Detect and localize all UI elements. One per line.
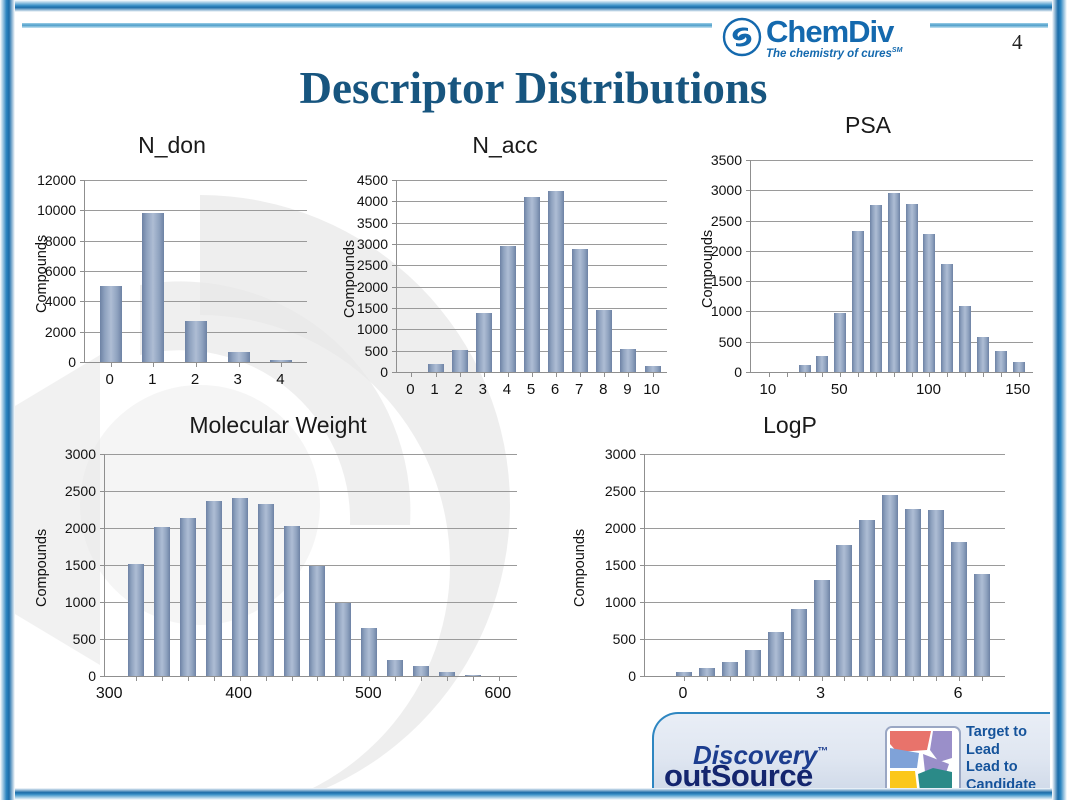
y-tick-label: 1500 <box>65 557 96 573</box>
y-tick-label: 2000 <box>605 520 636 536</box>
chart-title-molecular_weight: Molecular Weight <box>22 412 534 439</box>
x-tick-label: 2 <box>191 371 199 388</box>
bar <box>814 580 830 676</box>
x-tick-mark <box>136 676 137 681</box>
x-tick-label: 1 <box>430 381 438 398</box>
x-tick-mark <box>188 676 189 681</box>
gridline <box>105 454 517 455</box>
bar <box>928 510 944 677</box>
bar <box>722 662 738 676</box>
x-tick-mark <box>317 676 318 681</box>
bar <box>284 526 300 676</box>
x-tick-mark <box>653 372 654 377</box>
x-tick-mark <box>153 362 154 367</box>
x-tick-mark <box>947 372 948 377</box>
x-tick-mark <box>532 372 533 377</box>
gridline <box>645 454 1005 455</box>
bar <box>524 197 540 372</box>
bar <box>799 365 811 372</box>
bar <box>428 364 444 372</box>
y-tick-label: 2500 <box>605 483 636 499</box>
gridline <box>85 241 307 242</box>
y-tick-label: 1500 <box>357 300 388 316</box>
y-tick-label: 2500 <box>711 213 742 229</box>
y-tick-mark <box>100 528 105 529</box>
y-tick-label: 10000 <box>37 202 76 218</box>
y-tick-mark <box>640 454 645 455</box>
x-tick-mark <box>876 372 877 377</box>
chemdiv-swirl-icon <box>722 17 762 57</box>
y-tick-mark <box>640 565 645 566</box>
x-tick-mark <box>484 372 485 377</box>
x-tick-label: 3 <box>234 371 242 388</box>
bar <box>476 313 492 372</box>
bar <box>596 310 612 372</box>
chemdiv-tagline-sm: SM <box>892 47 903 54</box>
y-tick-label: 8000 <box>45 233 76 249</box>
x-tick-label: 3 <box>816 685 825 703</box>
y-tick-label: 2500 <box>357 257 388 273</box>
y-tick-label: 4500 <box>357 172 388 188</box>
bar <box>959 306 971 372</box>
x-tick-mark <box>196 362 197 367</box>
x-tick-label: 10 <box>760 381 777 398</box>
y-tick-label: 1000 <box>711 303 742 319</box>
x-tick-mark <box>965 372 966 377</box>
x-tick-label: 0 <box>105 371 113 388</box>
y-tick-label: 3500 <box>711 152 742 168</box>
y-tick-label: 3000 <box>65 446 96 462</box>
gridline <box>645 528 1005 529</box>
bar <box>834 313 846 372</box>
x-tick-mark <box>556 372 557 377</box>
x-tick-mark <box>292 676 293 681</box>
x-tick-label: 7 <box>575 381 583 398</box>
gridline <box>105 491 517 492</box>
y-tick-label: 4000 <box>357 193 388 209</box>
y-tick-mark <box>392 265 397 266</box>
x-tick-mark <box>240 676 241 681</box>
y-tick-mark <box>392 351 397 352</box>
y-tick-label: 3500 <box>357 215 388 231</box>
bar <box>309 566 325 676</box>
y-tick-mark <box>100 491 105 492</box>
y-tick-mark <box>80 332 85 333</box>
bar <box>768 632 784 676</box>
chart-title-n_acc: N_acc <box>330 132 680 159</box>
x-tick-mark <box>983 372 984 377</box>
plot-area-n_don <box>84 180 307 363</box>
bar <box>699 668 715 677</box>
y-tick-mark <box>640 639 645 640</box>
x-tick-mark <box>343 676 344 681</box>
bar <box>206 501 222 676</box>
x-tick-mark <box>508 372 509 377</box>
x-tick-mark <box>499 676 500 681</box>
bar <box>941 264 953 372</box>
x-tick-mark <box>840 372 841 377</box>
page-number: 4 <box>1012 30 1023 55</box>
x-tick-label: 6 <box>551 381 559 398</box>
bar <box>387 660 403 676</box>
x-tick-mark <box>867 676 868 681</box>
y-tick-mark <box>746 221 751 222</box>
x-tick-mark <box>214 676 215 681</box>
y-tick-label: 1000 <box>65 594 96 610</box>
y-tick-label: 4000 <box>45 293 76 309</box>
x-tick-mark <box>805 372 806 377</box>
y-tick-mark <box>100 565 105 566</box>
y-axis-label-psa: Compounds <box>700 230 716 308</box>
slide-frame-right <box>1052 0 1067 800</box>
slide-frame-bottom <box>0 788 1067 800</box>
x-tick-mark <box>787 372 788 377</box>
x-tick-mark <box>628 372 629 377</box>
x-tick-label: 4 <box>276 371 284 388</box>
y-tick-mark <box>80 210 85 211</box>
trademark-icon: ™ <box>817 745 828 757</box>
bar <box>154 527 170 676</box>
chemdiv-tagline-text: The chemistry of cures <box>766 48 892 60</box>
x-tick-label: 10 <box>643 381 660 398</box>
y-tick-label: 1500 <box>711 273 742 289</box>
x-tick-mark <box>395 676 396 681</box>
bar <box>500 246 516 372</box>
bar <box>882 495 898 676</box>
y-tick-mark <box>392 329 397 330</box>
plot-area-molecular_weight <box>104 454 517 677</box>
x-tick-label: 6 <box>954 685 963 703</box>
discovery-outsource-banner: Discovery™ outSource Target to Lead Lead… <box>652 712 1050 796</box>
x-tick-label: 1 <box>148 371 156 388</box>
gridline <box>85 271 307 272</box>
y-tick-mark <box>100 602 105 603</box>
x-tick-mark <box>604 372 605 377</box>
chart-molecular_weight: Molecular WeightCompounds050010001500200… <box>22 412 534 712</box>
x-tick-mark <box>912 372 913 377</box>
y-tick-mark <box>392 308 397 309</box>
x-tick-mark <box>730 676 731 681</box>
y-tick-mark <box>746 190 751 191</box>
x-tick-mark <box>822 676 823 681</box>
x-tick-mark <box>266 676 267 681</box>
x-tick-mark <box>959 676 960 681</box>
x-tick-mark <box>936 676 937 681</box>
bar <box>905 509 921 676</box>
y-tick-label: 2000 <box>711 243 742 259</box>
plot-area-psa <box>750 160 1033 373</box>
y-axis-label-molecular_weight: Compounds <box>34 529 50 607</box>
y-tick-mark <box>392 244 397 245</box>
slide: ChemDiv The chemistry of curesSM 4 Descr… <box>0 0 1067 800</box>
x-tick-label: 150 <box>1005 381 1030 398</box>
bar <box>977 337 989 372</box>
y-tick-label: 1000 <box>357 321 388 337</box>
gridline <box>751 160 1033 161</box>
y-tick-mark <box>640 602 645 603</box>
x-tick-label: 500 <box>355 685 382 703</box>
x-tick-mark <box>684 676 685 681</box>
x-tick-mark <box>894 372 895 377</box>
y-tick-mark <box>746 311 751 312</box>
bar <box>974 574 990 676</box>
x-tick-mark <box>411 372 412 377</box>
bullet-target-to-lead: Target to Lead <box>966 724 1050 759</box>
x-tick-mark <box>447 676 448 681</box>
page-title: Descriptor Distributions <box>0 62 1067 114</box>
y-tick-mark <box>100 454 105 455</box>
bar <box>572 249 588 372</box>
gridline <box>85 210 307 211</box>
bar <box>995 351 1007 372</box>
bar <box>100 286 122 362</box>
y-tick-label: 6000 <box>45 263 76 279</box>
y-tick-label: 500 <box>613 631 636 647</box>
chemdiv-logo: ChemDiv The chemistry of curesSM <box>722 16 922 64</box>
bar <box>745 650 761 676</box>
y-tick-label: 1500 <box>605 557 636 573</box>
y-tick-mark <box>392 201 397 202</box>
y-tick-mark <box>100 676 105 677</box>
x-tick-mark <box>436 372 437 377</box>
y-tick-mark <box>80 301 85 302</box>
bar <box>620 349 636 372</box>
x-tick-mark <box>844 676 845 681</box>
bar <box>142 213 164 362</box>
x-tick-mark <box>753 676 754 681</box>
y-tick-mark <box>746 160 751 161</box>
header-rule-right <box>930 23 1048 28</box>
y-tick-mark <box>80 241 85 242</box>
y-axis-label-n_acc: Compounds <box>342 240 358 318</box>
x-tick-mark <box>707 676 708 681</box>
chemdiv-tagline: The chemistry of curesSM <box>766 47 902 60</box>
bar <box>836 545 852 676</box>
y-tick-label: 2500 <box>65 483 96 499</box>
y-tick-mark <box>746 372 751 373</box>
gridline <box>645 491 1005 492</box>
x-tick-mark <box>799 676 800 681</box>
x-tick-mark <box>890 676 891 681</box>
bar <box>923 234 935 372</box>
y-tick-label: 2000 <box>357 279 388 295</box>
bar <box>361 628 377 676</box>
gridline <box>397 180 667 181</box>
bar <box>1013 362 1025 372</box>
slide-frame-left <box>0 0 15 800</box>
x-tick-mark <box>858 372 859 377</box>
bar <box>180 518 196 676</box>
y-tick-mark <box>392 223 397 224</box>
bar <box>852 231 864 372</box>
x-tick-label: 2 <box>455 381 463 398</box>
x-tick-mark <box>913 676 914 681</box>
x-tick-label: 9 <box>623 381 631 398</box>
y-tick-label: 12000 <box>37 172 76 188</box>
x-tick-label: 400 <box>225 685 252 703</box>
x-tick-mark <box>162 676 163 681</box>
chart-n_acc: N_accCompounds05001000150020002500300035… <box>330 132 680 394</box>
x-tick-mark <box>929 372 930 377</box>
y-tick-mark <box>80 180 85 181</box>
bar <box>185 321 207 362</box>
y-tick-label: 500 <box>719 334 742 350</box>
chemdiv-wordmark: ChemDiv <box>766 14 893 50</box>
chart-title-n_don: N_don <box>22 132 322 159</box>
x-tick-mark <box>369 676 370 681</box>
x-tick-label: 4 <box>503 381 511 398</box>
y-tick-mark <box>392 372 397 373</box>
y-tick-label: 500 <box>73 631 96 647</box>
x-tick-mark <box>460 372 461 377</box>
y-tick-label: 2000 <box>65 520 96 536</box>
chart-logp: LogPCompounds050010001500200025003000036 <box>560 412 1020 712</box>
x-tick-label: 0 <box>406 381 414 398</box>
slide-frame-top <box>0 0 1067 12</box>
x-tick-mark <box>769 372 770 377</box>
x-tick-label: 5 <box>527 381 535 398</box>
y-tick-label: 0 <box>68 354 76 370</box>
x-tick-label: 600 <box>485 685 512 703</box>
bar <box>870 205 882 372</box>
y-tick-mark <box>80 271 85 272</box>
bar <box>888 193 900 372</box>
gridline <box>85 180 307 181</box>
x-tick-mark <box>982 676 983 681</box>
y-tick-label: 0 <box>734 364 742 380</box>
x-tick-mark <box>239 362 240 367</box>
bar <box>791 609 807 676</box>
x-tick-label: 0 <box>679 685 688 703</box>
bar <box>413 666 429 676</box>
gridline <box>751 190 1033 191</box>
y-tick-mark <box>640 676 645 677</box>
y-tick-mark <box>640 528 645 529</box>
plot-area-logp <box>644 454 1005 677</box>
x-tick-mark <box>281 362 282 367</box>
x-tick-mark <box>421 676 422 681</box>
y-tick-mark <box>100 639 105 640</box>
bar <box>816 356 828 372</box>
x-tick-mark <box>776 676 777 681</box>
y-tick-label: 3000 <box>605 446 636 462</box>
x-tick-mark <box>822 372 823 377</box>
chart-title-logp: LogP <box>560 412 1020 439</box>
y-tick-mark <box>392 180 397 181</box>
chart-psa: PSACompounds0500100015002000250030003500… <box>688 112 1048 394</box>
bar <box>906 204 918 372</box>
header-rule-left <box>22 23 712 28</box>
y-tick-label: 2000 <box>45 324 76 340</box>
plot-area-n_acc <box>396 180 667 373</box>
bar <box>232 498 248 676</box>
x-tick-label: 3 <box>479 381 487 398</box>
y-tick-label: 0 <box>88 668 96 684</box>
chart-title-psa: PSA <box>688 112 1048 139</box>
bar <box>128 564 144 676</box>
x-tick-label: 100 <box>916 381 941 398</box>
y-axis-label-logp: Compounds <box>572 529 588 607</box>
y-tick-label: 0 <box>380 364 388 380</box>
bar <box>258 504 274 676</box>
x-tick-label: 300 <box>96 685 123 703</box>
y-tick-label: 3000 <box>711 182 742 198</box>
bar <box>335 603 351 676</box>
bar <box>228 352 250 362</box>
x-tick-mark <box>580 372 581 377</box>
y-tick-mark <box>80 362 85 363</box>
y-tick-label: 0 <box>628 668 636 684</box>
y-tick-mark <box>392 287 397 288</box>
x-tick-mark <box>473 676 474 681</box>
x-tick-mark <box>111 362 112 367</box>
y-tick-label: 1000 <box>605 594 636 610</box>
y-tick-mark <box>640 491 645 492</box>
bar <box>452 350 468 372</box>
y-tick-label: 3000 <box>357 236 388 252</box>
chart-n_don: N_donCompounds02000400060008000100001200… <box>22 132 322 382</box>
x-tick-mark <box>1019 372 1020 377</box>
bar <box>859 520 875 676</box>
y-tick-mark <box>746 342 751 343</box>
bar <box>951 542 967 676</box>
y-tick-label: 500 <box>365 343 388 359</box>
x-tick-label: 50 <box>831 381 848 398</box>
x-tick-label: 8 <box>599 381 607 398</box>
y-tick-mark <box>746 281 751 282</box>
bar <box>548 191 564 372</box>
x-tick-mark <box>1001 372 1002 377</box>
y-tick-mark <box>746 251 751 252</box>
